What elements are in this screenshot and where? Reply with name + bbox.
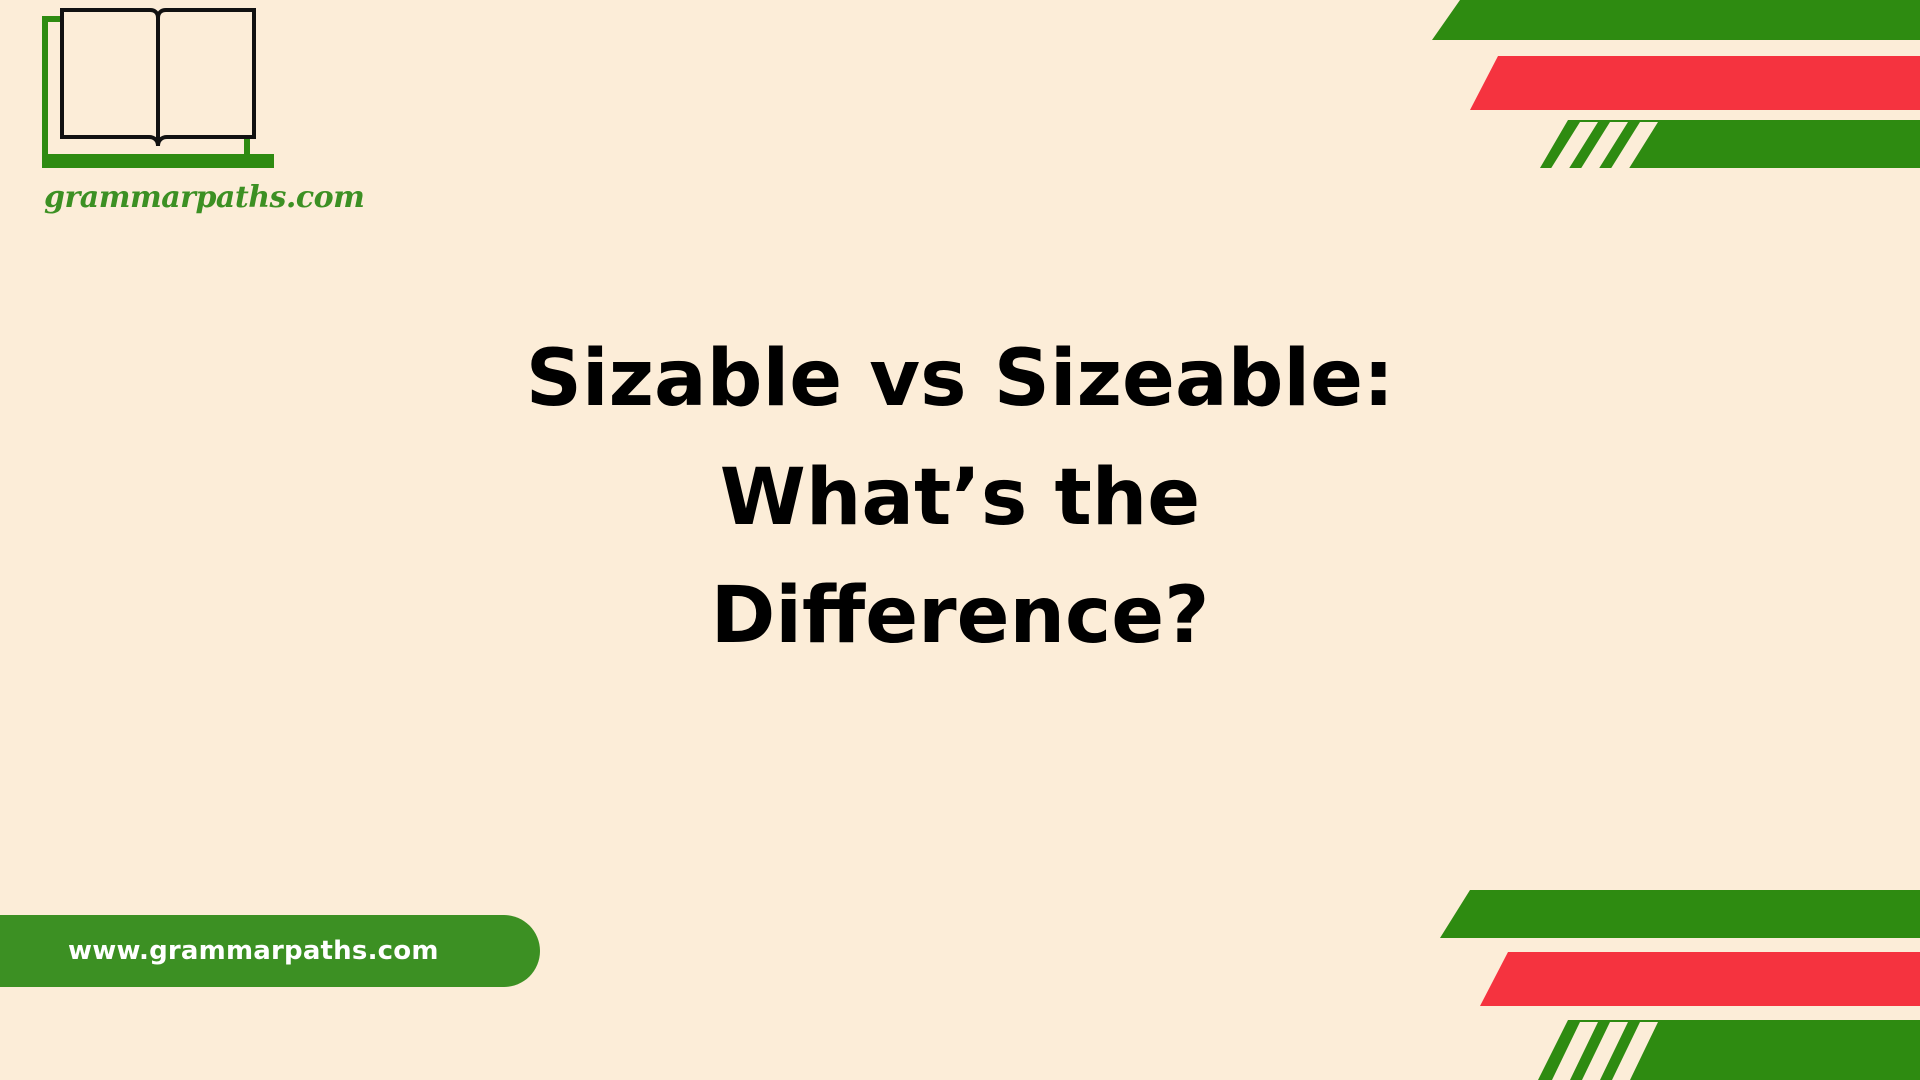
bottom-right-ribbon-decoration bbox=[1420, 890, 1920, 1080]
title-line-1: Sizable vs Sizeable: bbox=[330, 320, 1590, 439]
logo-wordmark: grammarpaths.com bbox=[44, 180, 328, 215]
top-right-ribbon-decoration bbox=[1420, 0, 1920, 185]
website-url-text: www.grammarpaths.com bbox=[68, 936, 439, 966]
title-line-3: Difference? bbox=[330, 557, 1590, 676]
page-title: Sizable vs Sizeable: What’s the Differen… bbox=[0, 320, 1920, 676]
website-url-badge[interactable]: www.grammarpaths.com bbox=[0, 915, 540, 987]
open-book-icon bbox=[38, 8, 278, 178]
poster-canvas: grammarpaths.com Sizable vs Sizeable: Wh… bbox=[0, 0, 1920, 1080]
site-logo: grammarpaths.com bbox=[38, 8, 328, 215]
title-line-2: What’s the bbox=[330, 439, 1590, 558]
